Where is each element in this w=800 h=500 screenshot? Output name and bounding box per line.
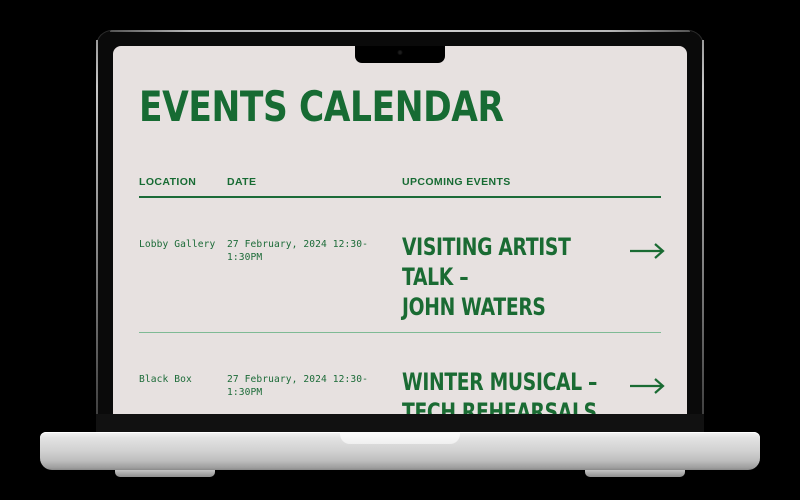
events-calendar-page: EVENTS CALENDAR LOCATION DATE UPCOMING E… — [113, 46, 687, 444]
cell-location: Black Box — [139, 367, 227, 386]
laptop-lid: EVENTS CALENDAR LOCATION DATE UPCOMING E… — [96, 30, 704, 430]
cell-location: Lobby Gallery — [139, 232, 227, 251]
laptop-base — [40, 432, 760, 470]
column-header-upcoming-events: UPCOMING EVENTS — [402, 176, 661, 188]
arrow-right-icon[interactable] — [629, 242, 669, 260]
screen-notch — [355, 46, 445, 63]
laptop-base-lip — [340, 432, 460, 444]
laptop-foot-right — [585, 470, 685, 477]
cell-date: 27 February, 2024 12:30-1:30PM — [227, 232, 402, 264]
column-header-date: DATE — [227, 176, 402, 188]
table-header-row: LOCATION DATE UPCOMING EVENTS — [139, 176, 661, 196]
arrow-right-icon[interactable] — [629, 377, 669, 395]
events-table: LOCATION DATE UPCOMING EVENTS Lobby Gall… — [139, 176, 661, 437]
cell-date: 27 February, 2024 12:30-1:30PM — [227, 367, 402, 399]
screenshot-stage: EVENTS CALENDAR LOCATION DATE UPCOMING E… — [0, 0, 800, 500]
event-title: VISITING ARTIST TALK – JOHN WATERS — [402, 232, 609, 322]
lid-right-edge — [702, 40, 704, 428]
page-title: EVENTS CALENDAR — [139, 86, 504, 128]
lid-left-edge — [96, 40, 98, 428]
laptop-foot-left — [115, 470, 215, 477]
column-header-location: LOCATION — [139, 176, 227, 188]
lid-top-edge — [110, 30, 690, 32]
cell-event: VISITING ARTIST TALK – JOHN WATERS — [402, 232, 669, 322]
camera-dot-icon — [399, 51, 402, 54]
table-row[interactable]: Lobby Gallery 27 February, 2024 12:30-1:… — [139, 198, 661, 332]
laptop-screen: EVENTS CALENDAR LOCATION DATE UPCOMING E… — [113, 46, 687, 444]
